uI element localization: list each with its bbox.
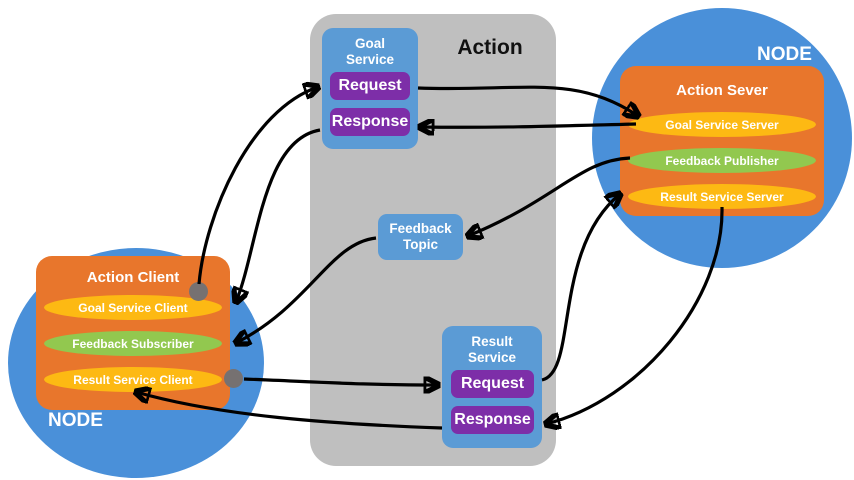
client-item-result-service-client[interactable]: Result Service Client [44,367,222,392]
feedback-topic-line2: Topic [389,237,451,253]
action-title: Action [430,36,550,60]
result-service-response[interactable]: Response [451,406,534,434]
client-node-label: NODE [48,410,103,432]
wire-goal-response-to-client [236,130,320,302]
goal-client-connector-dot [189,282,208,301]
diagram-canvas: Action Goal Service Request Response Fee… [0,0,854,480]
result-service-request[interactable]: Request [451,370,534,398]
action-server-title: Action Sever [620,82,824,99]
server-item-goal-service-server[interactable]: Goal Service Server [628,112,816,137]
result-service-panel: Result Service Request Response [442,326,542,448]
result-service-title-line2: Service [442,350,542,365]
client-item-feedback-subscriber[interactable]: Feedback Subscriber [44,331,222,356]
goal-service-response[interactable]: Response [330,108,410,136]
result-client-connector-dot [224,369,243,388]
wire-goal-client-to-request [199,87,318,284]
server-item-feedback-publisher[interactable]: Feedback Publisher [628,148,816,173]
goal-service-request[interactable]: Request [330,72,410,100]
server-item-result-service-server[interactable]: Result Service Server [628,184,816,209]
goal-service-title-line2: Service [322,52,418,67]
feedback-topic[interactable]: Feedback Topic [378,214,463,260]
server-node-label: NODE [757,44,812,66]
result-service-title-line1: Result [442,334,542,349]
feedback-topic-line1: Feedback [389,221,451,237]
goal-service-title-line1: Goal [322,36,418,51]
goal-service-panel: Goal Service Request Response [322,28,418,149]
